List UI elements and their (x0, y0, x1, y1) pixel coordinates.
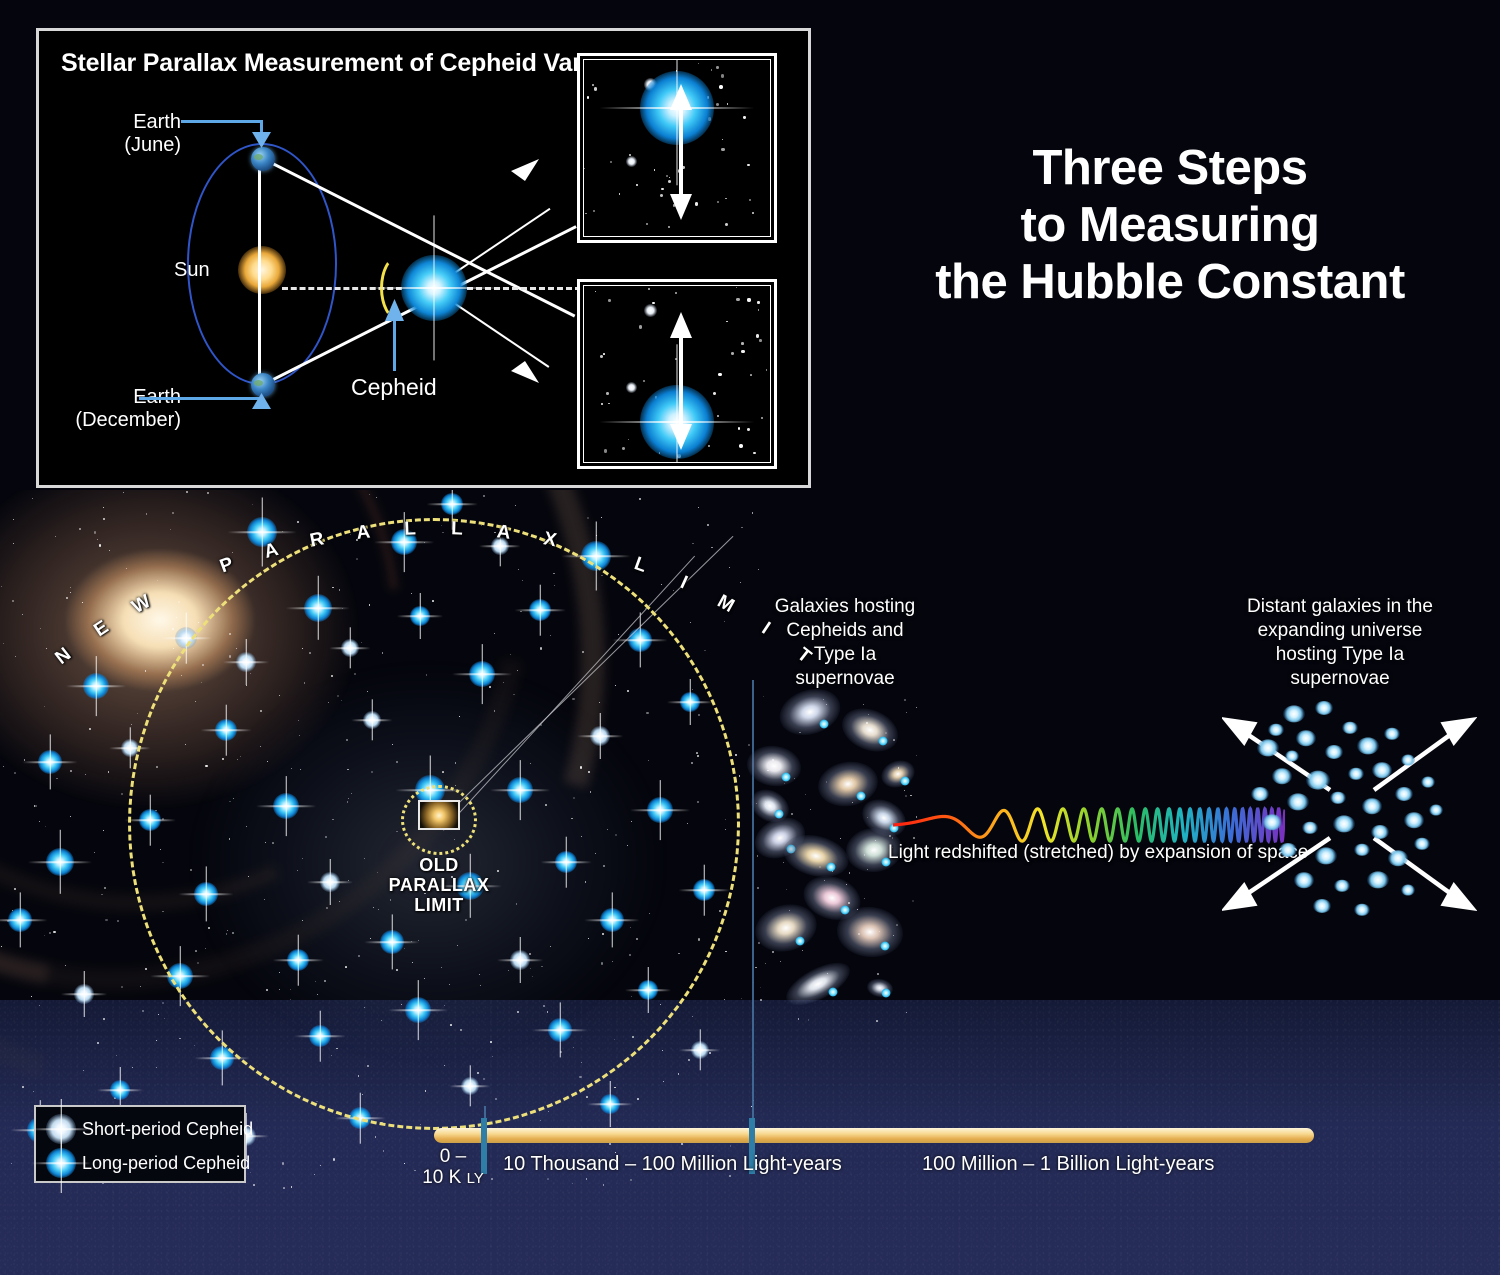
background-star (877, 973, 879, 975)
type-ia-supernova-marker (901, 777, 910, 786)
host-galaxy (774, 681, 847, 742)
background-star (848, 902, 850, 904)
distant-galaxy (1371, 825, 1389, 839)
background-star (784, 783, 785, 784)
background-star (763, 696, 764, 697)
panel-heading: Stellar Parallax Measurement of Cepheid … (61, 49, 638, 78)
scale-seg0-line2: 10 K LY (410, 1167, 496, 1189)
infographic-canvas: NEWPARALLAXLIMIT OLD PARALLAX LIMIT Stel… (0, 0, 1500, 1275)
background-star (889, 835, 891, 837)
background-star (755, 967, 756, 968)
background-star (849, 872, 850, 873)
background-star (863, 704, 864, 705)
distant-galaxy (1257, 739, 1279, 756)
distant-galaxy (1287, 793, 1309, 810)
background-star (765, 963, 766, 964)
distant-galaxy (1262, 814, 1282, 830)
background-star (757, 855, 758, 856)
distant-galaxy (1333, 815, 1355, 832)
arc-letter: X (542, 528, 560, 552)
arc-letter: R (308, 528, 327, 552)
cepheid-inset-december (577, 279, 777, 469)
inset-shift-arrow (584, 60, 771, 237)
long-period-cepheid-marker (83, 673, 109, 699)
scale-seg0-unit: LY (467, 1170, 484, 1187)
background-star (818, 986, 819, 987)
long-period-cepheid-marker (441, 493, 463, 515)
cepheid-leader-line (393, 321, 396, 371)
background-star (767, 770, 769, 772)
distant-galaxy (1325, 745, 1343, 759)
type-ia-supernova-marker (774, 810, 783, 819)
background-star (904, 790, 905, 791)
earth-june-line-1: Earth (91, 111, 181, 134)
inset-shift-arrow (584, 286, 771, 463)
distant-galaxy (1251, 787, 1269, 801)
background-star (760, 987, 761, 988)
arc-letter: A (262, 539, 282, 564)
background-star (780, 961, 781, 962)
old-limit-line-1: OLD (371, 855, 507, 875)
distant-galaxy (1296, 730, 1316, 746)
background-star (858, 933, 860, 935)
background-star (868, 714, 869, 715)
background-star (916, 755, 917, 756)
background-star (866, 722, 868, 724)
background-star (846, 884, 847, 885)
earth-june-line-2: (June) (91, 134, 181, 157)
step2-line-2: Cepheids and (750, 619, 940, 643)
arc-letter: I (677, 572, 692, 595)
december-leader-riser (260, 397, 263, 405)
title-line-1: Three Steps (910, 140, 1430, 197)
sun-label: Sun (174, 259, 210, 282)
earth-june-label: Earth (June) (91, 111, 181, 157)
step3-line-3: hosting Type Ia (1240, 643, 1440, 667)
sun-icon (238, 246, 286, 294)
distant-galaxy (1362, 798, 1382, 814)
distant-galaxy (1285, 751, 1299, 762)
long-period-cepheid-marker (46, 848, 74, 876)
cepheid-star-icon (401, 255, 467, 321)
background-star (810, 809, 811, 810)
long-period-cepheid-marker (110, 1080, 130, 1100)
distant-galaxy (1421, 777, 1435, 788)
background-star (805, 794, 806, 795)
cepheid-label: Cepheid (351, 376, 437, 399)
june-leader-vertical (260, 120, 263, 136)
distant-galaxy (1357, 737, 1379, 754)
background-star (840, 838, 841, 839)
distant-galaxy (1429, 805, 1443, 816)
arc-letter: P (217, 553, 237, 578)
background-star (823, 699, 824, 700)
background-star (906, 1012, 907, 1013)
background-star (916, 707, 917, 708)
earth-june-icon (251, 147, 275, 171)
distant-galaxy-field (1222, 690, 1477, 925)
arc-letter: A (355, 521, 372, 545)
type-ia-supernova-marker (826, 863, 835, 872)
arc-letter: L (404, 518, 417, 540)
background-star (864, 898, 865, 899)
type-ia-supernova-marker (829, 988, 838, 997)
background-star (802, 950, 803, 951)
scale-seg0-value: 10 K (422, 1167, 461, 1188)
distant-galaxy (1372, 762, 1392, 778)
step2-caption: Galaxies hosting Cepheids and Type Ia su… (750, 595, 940, 691)
cepheid-legend: Short-period Cepheid Long-period Cepheid (34, 1105, 246, 1183)
distant-galaxy (1313, 899, 1331, 913)
sun-thumbnail-box (418, 800, 460, 830)
inset-background-star (770, 78, 771, 80)
background-star (798, 1018, 799, 1019)
earth-december-label: Earth (December) (59, 386, 181, 432)
step2-line-1: Galaxies hosting (750, 595, 940, 619)
step3-line-2: expanding universe (1240, 619, 1440, 643)
step2-line-3: Type Ia (750, 643, 940, 667)
page-title: Three Steps to Measuring the Hubble Cons… (910, 140, 1430, 311)
stellar-parallax-panel: Stellar Parallax Measurement of Cepheid … (36, 28, 811, 488)
parallax-baseline (258, 151, 261, 389)
scale-seg0-line1: 0 – (410, 1146, 496, 1167)
distant-galaxy (1401, 885, 1415, 896)
background-star (826, 781, 827, 782)
background-star (772, 951, 773, 952)
december-leader-horizontal (139, 397, 263, 400)
background-star (904, 699, 905, 700)
background-star (898, 767, 899, 768)
type-ia-supernova-marker (880, 942, 889, 951)
inset-december-field (583, 285, 771, 463)
legend-label-long-period: Long-period Cepheid (82, 1153, 250, 1174)
step3-caption: Distant galaxies in the expanding univer… (1240, 595, 1440, 691)
arc-letter: W (128, 590, 155, 618)
earth-dec-line-2: (December) (59, 409, 181, 432)
long-period-star-icon (44, 1146, 78, 1180)
host-galaxy (836, 701, 905, 760)
old-parallax-limit-text: OLD PARALLAX LIMIT (371, 855, 507, 915)
distant-galaxy (1315, 701, 1333, 715)
background-star (885, 732, 887, 734)
distant-galaxy (1401, 755, 1415, 766)
background-star (875, 840, 876, 841)
background-star (794, 778, 795, 779)
background-star (893, 935, 894, 936)
distance-scale-bar (434, 1128, 1314, 1143)
background-star (808, 1019, 809, 1020)
background-star (783, 862, 784, 863)
long-period-cepheid-marker (38, 750, 62, 774)
scale-bar-fill (434, 1128, 1314, 1143)
background-star (906, 712, 907, 713)
background-star (867, 869, 868, 870)
background-star (786, 889, 787, 890)
distant-galaxy (1404, 812, 1424, 828)
old-limit-line-3: LIMIT (371, 895, 507, 915)
host-galaxy (866, 977, 895, 999)
scale-label-segment1: 10 Thousand – 100 Million Light-years (503, 1153, 842, 1176)
legend-label-short-period: Short-period Cepheid (82, 1119, 253, 1140)
title-line-3: the Hubble Constant (910, 254, 1430, 311)
distant-galaxy (1395, 787, 1413, 801)
type-ia-supernova-marker (795, 936, 804, 945)
type-ia-supernova-marker (819, 720, 828, 729)
host-galaxy (878, 756, 919, 792)
host-galaxy (744, 742, 803, 789)
arc-letter: L (451, 518, 464, 540)
type-ia-supernova-marker (878, 737, 887, 746)
step3-line-1: Distant galaxies in the (1240, 595, 1440, 619)
scale-label-segment0: 0 – 10 K LY (410, 1146, 496, 1189)
long-period-cepheid-marker (8, 908, 32, 932)
distant-galaxy (1367, 871, 1389, 888)
background-star (799, 732, 800, 733)
step3-line-4: supernovae (1240, 667, 1440, 691)
arc-letter: A (496, 521, 513, 545)
background-star (857, 909, 858, 910)
legend-item-long-period: Long-period Cepheid (44, 1146, 250, 1180)
background-star (789, 910, 790, 911)
background-star (791, 813, 793, 815)
distant-galaxy (1315, 847, 1337, 864)
distant-galaxy (1279, 843, 1297, 857)
title-line-2: to Measuring (910, 197, 1430, 254)
background-star (876, 1020, 878, 1022)
background-star (827, 973, 828, 974)
background-star (760, 999, 762, 1001)
short-period-cepheid-marker (74, 984, 94, 1004)
old-limit-line-2: PARALLAX (371, 875, 507, 895)
host-galaxy (780, 954, 856, 1013)
background-star (912, 900, 914, 902)
cepheid-inset-june (577, 53, 777, 243)
june-leader-horizontal (181, 120, 263, 123)
earth-december-icon (251, 373, 275, 397)
distant-galaxy (1306, 771, 1330, 790)
distant-galaxy (1283, 705, 1305, 722)
distant-galaxy (1272, 768, 1292, 784)
scale-label-segment2: 100 Million – 1 Billion Light-years (922, 1153, 1214, 1176)
inset-june-field (583, 59, 771, 237)
background-star (772, 759, 774, 761)
inset-background-star (743, 462, 747, 463)
arc-letter: M (713, 591, 738, 618)
type-ia-supernova-marker (881, 989, 890, 998)
arc-letter: L (631, 553, 650, 578)
background-star (819, 866, 821, 868)
distant-galaxy (1388, 850, 1408, 866)
legend-item-short-period: Short-period Cepheid (44, 1112, 253, 1146)
type-ia-supernova-marker (857, 792, 866, 801)
type-ia-supernova-marker (781, 773, 790, 782)
distant-galaxy (1294, 872, 1314, 888)
